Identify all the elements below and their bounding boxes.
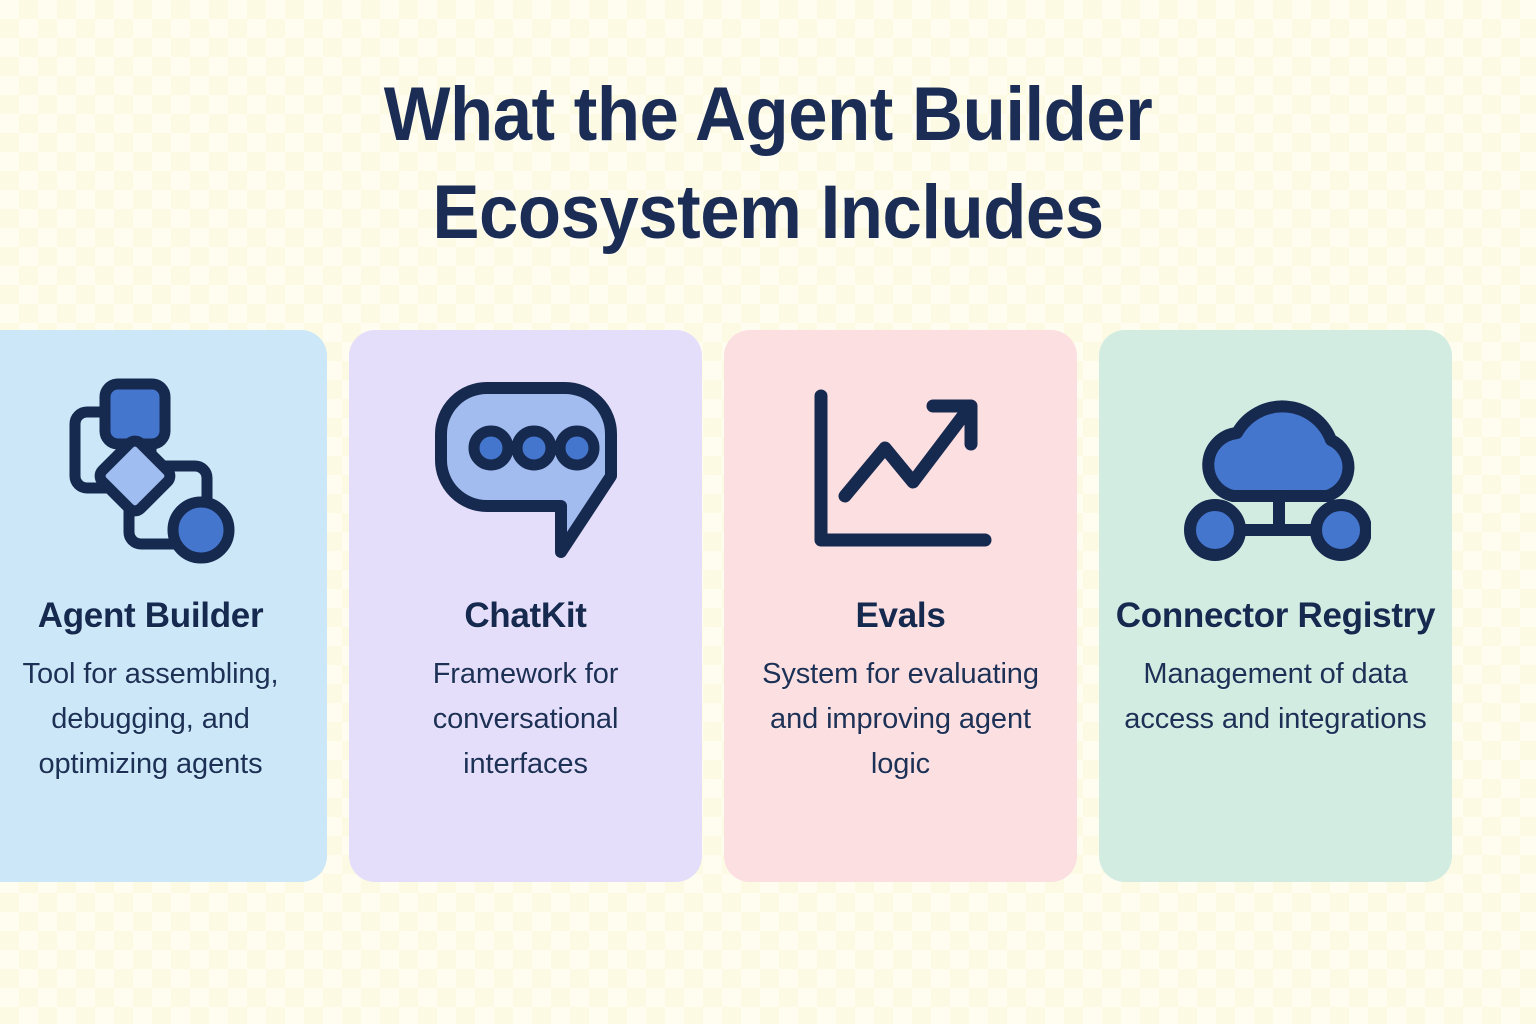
card-row: Agent Builder Tool for assembling, debug… (0, 330, 1452, 882)
growth-chart-icon (740, 366, 1061, 576)
card-agent-builder[interactable]: Agent Builder Tool for assembling, debug… (0, 330, 327, 882)
card-chatkit[interactable]: ChatKit Framework for conversational int… (349, 330, 702, 882)
card-description: Tool for assembling, debugging, and opti… (0, 652, 306, 787)
card-title: Evals (856, 594, 946, 638)
infographic-page: What the Agent Builder Ecosystem Include… (0, 0, 1536, 1024)
card-title: Connector Registry (1116, 594, 1435, 638)
cloud-network-icon (1115, 366, 1436, 576)
card-evals[interactable]: Evals System for evaluating and improvin… (724, 330, 1077, 882)
card-description: Management of data access and integratio… (1121, 652, 1431, 742)
card-title: ChatKit (464, 594, 586, 638)
page-title-line-1: What the Agent Builder (54, 66, 1482, 164)
page-title: What the Agent Builder Ecosystem Include… (0, 66, 1536, 262)
workflow-nodes-icon (0, 366, 311, 576)
chat-bubble-icon (365, 366, 686, 576)
page-title-line-2: Ecosystem Includes (54, 164, 1482, 262)
card-description: System for evaluating and improving agen… (746, 652, 1056, 787)
card-connector-registry[interactable]: Connector Registry Management of data ac… (1099, 330, 1452, 882)
card-description: Framework for conversational interfaces (371, 652, 681, 787)
card-title: Agent Builder (38, 594, 264, 638)
